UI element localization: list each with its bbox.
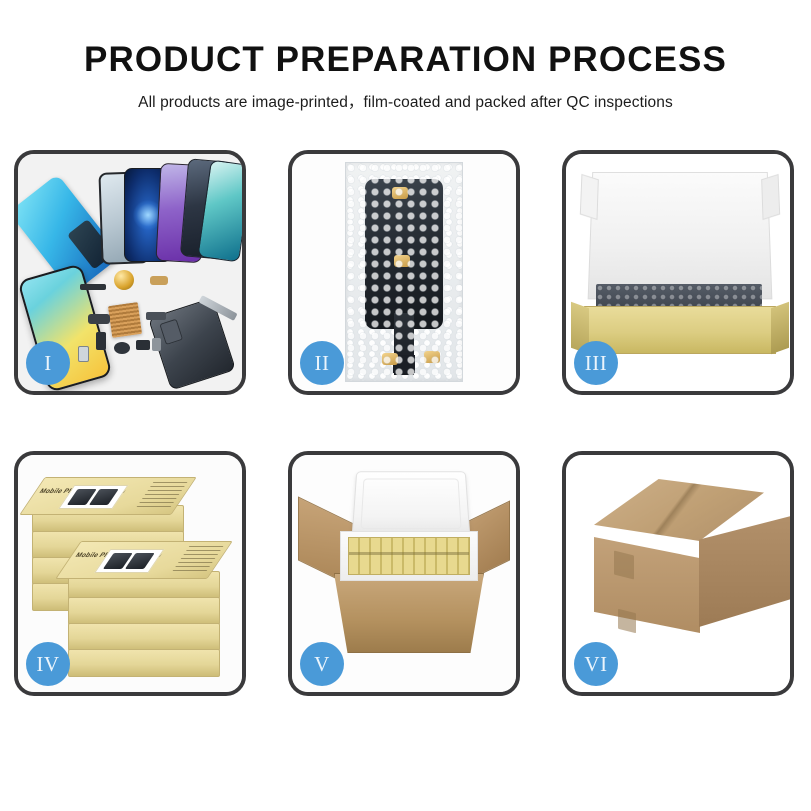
process-step-5[interactable]: V — [288, 451, 520, 696]
spare-part-flex-cable — [88, 314, 110, 324]
circuit-board-chip — [108, 302, 142, 338]
connector-middle — [394, 255, 410, 267]
mailer-box-lid — [588, 172, 773, 299]
step-badge-6: VI — [574, 642, 618, 686]
step-badge-1: I — [26, 341, 70, 385]
step-badge-5: V — [300, 642, 344, 686]
carton-body — [334, 573, 484, 653]
stacked-box — [68, 597, 220, 625]
process-step-2[interactable]: II — [288, 150, 520, 395]
process-step-1[interactable]: I — [14, 150, 246, 395]
screen-assembly — [365, 179, 443, 329]
spare-part-speaker — [114, 342, 130, 354]
mailer-box-tray — [584, 306, 776, 354]
flex-cable-tail — [394, 313, 414, 375]
carton-tape-upper — [614, 551, 634, 580]
page-header: PRODUCT PREPARATION PROCESS All products… — [0, 0, 811, 112]
process-step-grid: I II III — [14, 150, 797, 696]
connector-top — [392, 187, 408, 199]
retail-box-lid-back: Mobile Phone Spare Parts — [19, 477, 197, 515]
stacked-box — [68, 649, 220, 677]
page-title: PRODUCT PREPARATION PROCESS — [0, 42, 811, 79]
step-badge-3: III — [574, 341, 618, 385]
connector-bottom-right — [424, 351, 440, 363]
process-step-3[interactable]: III — [562, 150, 794, 395]
foam-lid — [352, 471, 471, 537]
spare-part-module — [96, 332, 106, 350]
page-subtitle: All products are image-printed，film-coat… — [0, 90, 811, 112]
shipping-carton-right-face — [699, 515, 794, 627]
spare-part-bracket — [146, 312, 166, 320]
stacked-box — [68, 623, 220, 651]
shipping-carton-left-face — [594, 537, 700, 633]
process-step-4[interactable]: Mobile Phone Spare Parts Mobile Phone Sp… — [14, 451, 246, 696]
spare-part-connector — [150, 276, 168, 285]
spare-part-battery — [152, 338, 161, 351]
bubble-wrap-bag — [345, 162, 463, 382]
yellow-boxes-inside — [348, 537, 470, 575]
connector-bottom-left — [382, 353, 398, 365]
process-step-6[interactable]: VI — [562, 451, 794, 696]
spare-part-sim-tray — [78, 346, 89, 362]
spare-part-camera — [136, 340, 150, 350]
retail-box-lid-front: Mobile Phone Spare Parts — [55, 541, 233, 579]
step-badge-4: IV — [26, 642, 70, 686]
step-badge-2: II — [300, 341, 344, 385]
carton-tape-lower — [618, 609, 636, 633]
spare-part-strip — [80, 284, 106, 290]
gold-component — [114, 270, 134, 290]
box-spec-lines — [172, 546, 224, 572]
